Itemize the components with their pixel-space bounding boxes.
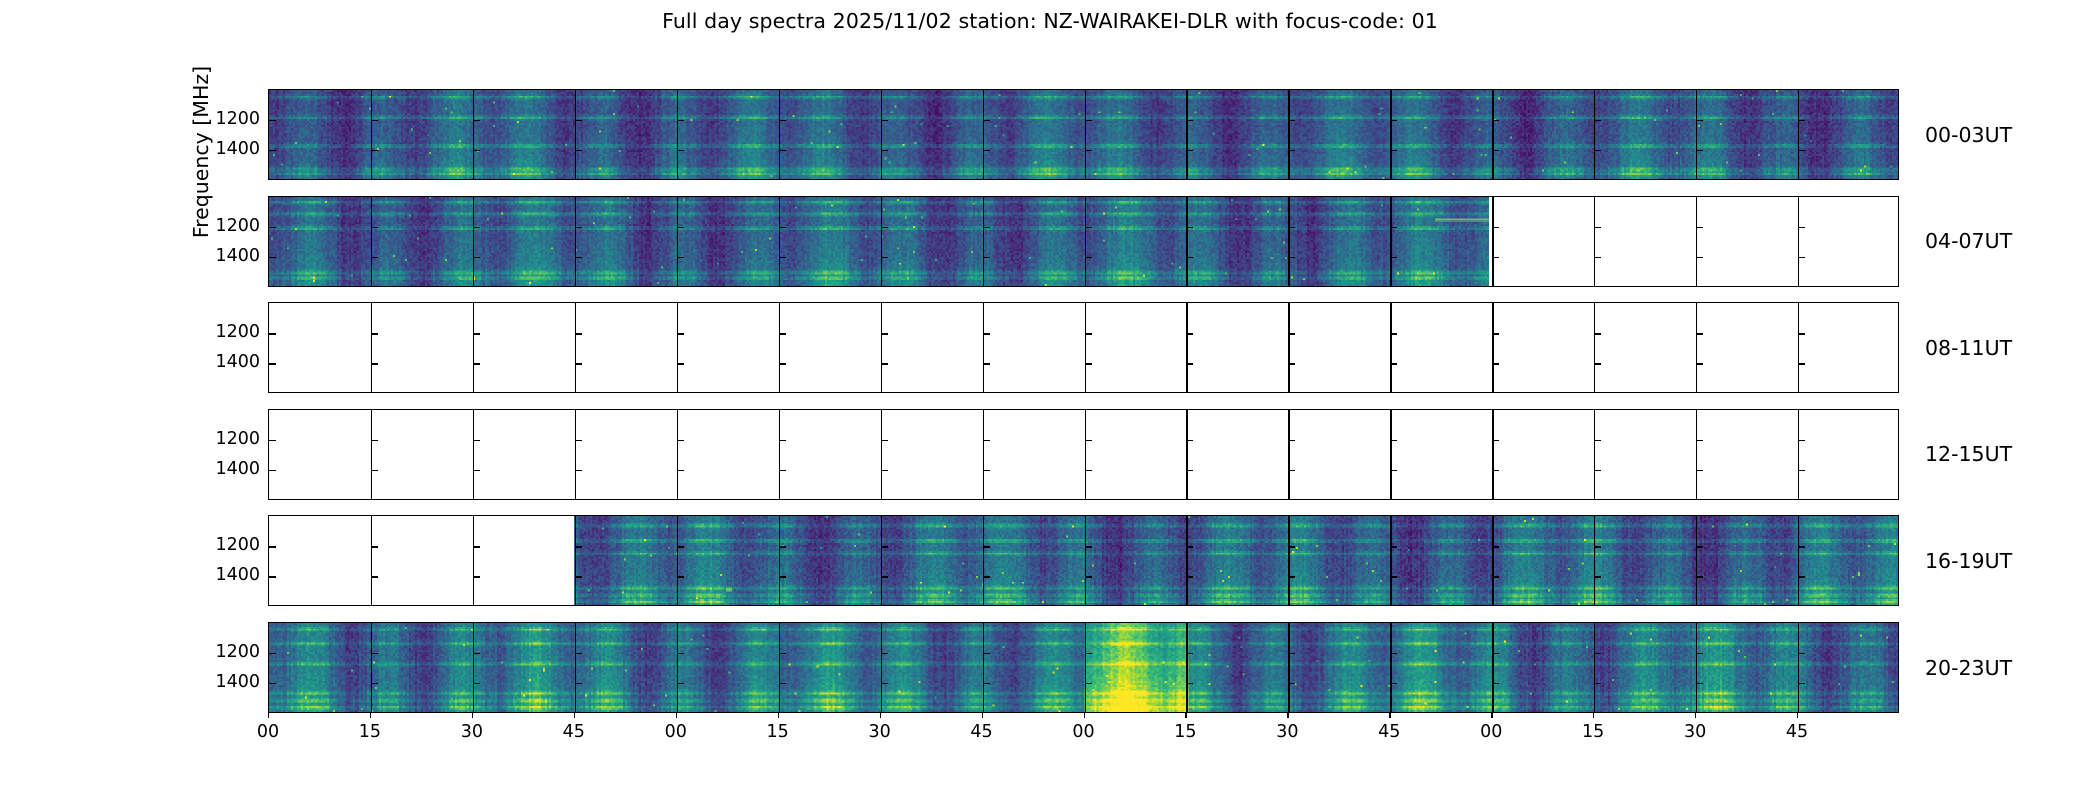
y-tick-mark xyxy=(575,227,582,228)
y-tick-mark xyxy=(1288,470,1295,471)
y-tick-mark xyxy=(1492,470,1499,471)
y-tick-mark xyxy=(269,257,276,258)
panel-divider xyxy=(983,516,984,605)
y-tick-mark xyxy=(779,333,786,334)
y-tick-mark xyxy=(779,576,786,577)
y-tick-mark xyxy=(1594,653,1601,654)
y-tick-mark xyxy=(269,653,276,654)
y-tick-mark xyxy=(371,683,378,684)
x-tick-mark xyxy=(880,713,881,718)
y-tick-mark xyxy=(1798,576,1805,577)
x-tick-mark xyxy=(574,713,575,718)
y-tick-mark xyxy=(1288,257,1295,258)
y-tick-mark xyxy=(1390,120,1397,121)
y-tick-mark xyxy=(1390,440,1397,441)
x-tick-label: 00 xyxy=(257,722,279,742)
y-tick-mark xyxy=(1085,683,1092,684)
y-tick-mark xyxy=(473,150,480,151)
y-tick-mark xyxy=(881,150,888,151)
y-tick-mark xyxy=(1798,333,1805,334)
panel-divider xyxy=(1390,516,1391,605)
panel-divider xyxy=(371,90,372,179)
y-tick-mark xyxy=(983,363,990,364)
y-tick-mark xyxy=(677,227,684,228)
y-tick-mark xyxy=(1798,653,1805,654)
y-tick-mark xyxy=(1492,333,1499,334)
y-tick-mark xyxy=(779,683,786,684)
spectrogram-figure: Full day spectra 2025/11/02 station: NZ-… xyxy=(0,0,2100,800)
panel-divider xyxy=(1085,410,1086,499)
y-tick-mark xyxy=(1390,546,1397,547)
panel-divider xyxy=(1186,197,1187,286)
panel-divider xyxy=(473,197,474,286)
spectrogram-row: 1200140012-15UT xyxy=(268,409,1899,500)
panel-divider xyxy=(983,90,984,179)
y-tick-mark xyxy=(371,120,378,121)
x-tick-label: 45 xyxy=(1378,722,1400,742)
y-tick-mark xyxy=(983,150,990,151)
panel-divider xyxy=(1798,516,1799,605)
panel-divider xyxy=(1696,623,1697,712)
y-tick-mark xyxy=(1492,120,1499,121)
y-tick-mark xyxy=(371,576,378,577)
y-tick-mark xyxy=(1492,653,1499,654)
panel-divider xyxy=(1696,197,1697,286)
y-tick-mark xyxy=(473,683,480,684)
y-tick-mark xyxy=(677,363,684,364)
y-tick-mark xyxy=(269,363,276,364)
y-tick-label: 1400 xyxy=(212,672,260,692)
panel-divider xyxy=(677,90,678,179)
y-tick-mark xyxy=(1288,576,1295,577)
row-time-label: 08-11UT xyxy=(1925,336,2012,360)
panel-divider xyxy=(1288,197,1289,286)
y-tick-mark xyxy=(1492,257,1499,258)
y-tick-mark xyxy=(1492,440,1499,441)
y-tick-label: 1200 xyxy=(212,216,260,236)
y-tick-mark xyxy=(1085,440,1092,441)
panel-divider xyxy=(983,197,984,286)
y-tick-mark xyxy=(677,546,684,547)
panel-divider xyxy=(1186,90,1187,179)
y-tick-mark xyxy=(677,470,684,471)
panel-divider xyxy=(677,303,678,392)
y-tick-mark xyxy=(473,576,480,577)
panel-divider xyxy=(1594,197,1595,286)
panel-divider xyxy=(473,410,474,499)
y-tick-mark xyxy=(983,470,990,471)
panel-divider xyxy=(1798,623,1799,712)
panel-divider xyxy=(1696,516,1697,605)
y-tick-mark xyxy=(1390,653,1397,654)
y-tick-mark xyxy=(1696,470,1703,471)
y-tick-mark xyxy=(1492,576,1499,577)
x-tick-label: 15 xyxy=(1174,722,1196,742)
y-tick-mark xyxy=(1492,227,1499,228)
panel-divider xyxy=(371,623,372,712)
y-tick-mark xyxy=(779,150,786,151)
y-tick-mark xyxy=(779,257,786,258)
y-tick-mark xyxy=(269,120,276,121)
y-tick-mark xyxy=(1085,150,1092,151)
y-tick-mark xyxy=(881,546,888,547)
y-tick-mark xyxy=(881,683,888,684)
spectrogram-row: 1200140020-23UT xyxy=(268,622,1899,713)
panel-divider xyxy=(1288,623,1289,712)
panel-divider xyxy=(1288,303,1289,392)
y-tick-mark xyxy=(1798,363,1805,364)
y-tick-mark xyxy=(1492,546,1499,547)
y-tick-mark xyxy=(371,227,378,228)
y-tick-mark xyxy=(1390,333,1397,334)
panel-divider xyxy=(1288,90,1289,179)
panel-divider xyxy=(779,410,780,499)
panel-divider xyxy=(1186,303,1187,392)
x-tick-label: 15 xyxy=(1582,722,1604,742)
y-tick-mark xyxy=(1085,257,1092,258)
y-tick-mark xyxy=(779,653,786,654)
panel-divider xyxy=(575,90,576,179)
y-tick-mark xyxy=(1085,576,1092,577)
x-tick-mark xyxy=(268,713,269,718)
x-tick-mark xyxy=(1287,713,1288,718)
panel-divider xyxy=(1492,410,1493,499)
y-tick-mark xyxy=(779,363,786,364)
x-tick-mark xyxy=(1389,713,1390,718)
spectrogram-row: 1200140008-11UT xyxy=(268,302,1899,393)
y-tick-label: 1400 xyxy=(212,139,260,159)
panel-divider xyxy=(1492,303,1493,392)
panel-divider xyxy=(779,303,780,392)
x-tick-label: 15 xyxy=(359,722,381,742)
panel-divider xyxy=(1696,90,1697,179)
panel-divider xyxy=(677,516,678,605)
panel-divider xyxy=(779,623,780,712)
panel-divider xyxy=(575,516,576,605)
y-tick-mark xyxy=(1492,150,1499,151)
panel-divider xyxy=(1390,410,1391,499)
row-time-label: 12-15UT xyxy=(1925,442,2012,466)
x-tick-mark xyxy=(1695,713,1696,718)
y-tick-mark xyxy=(881,333,888,334)
y-tick-mark xyxy=(1186,227,1193,228)
y-tick-mark xyxy=(1696,683,1703,684)
panel-divider xyxy=(881,623,882,712)
panel-divider xyxy=(1186,516,1187,605)
panel-divider xyxy=(881,410,882,499)
x-tick-mark xyxy=(1491,713,1492,718)
panel-divider xyxy=(575,197,576,286)
y-tick-mark xyxy=(677,257,684,258)
y-tick-mark xyxy=(1186,150,1193,151)
row-frame xyxy=(268,302,1899,393)
x-tick-mark xyxy=(982,713,983,718)
y-tick-mark xyxy=(1186,576,1193,577)
y-tick-mark xyxy=(677,576,684,577)
y-tick-mark xyxy=(575,363,582,364)
y-tick-mark xyxy=(779,440,786,441)
y-tick-mark xyxy=(371,440,378,441)
y-tick-mark xyxy=(473,257,480,258)
panel-divider xyxy=(1594,516,1595,605)
panel-divider xyxy=(983,303,984,392)
panel-divider xyxy=(983,623,984,712)
y-tick-mark xyxy=(1492,363,1499,364)
panel-divider xyxy=(1186,410,1187,499)
y-tick-mark xyxy=(779,546,786,547)
y-tick-label: 1400 xyxy=(212,565,260,585)
y-tick-mark xyxy=(269,576,276,577)
panel-divider xyxy=(1085,197,1086,286)
y-tick-mark xyxy=(575,683,582,684)
y-tick-mark xyxy=(473,546,480,547)
y-tick-mark xyxy=(1696,546,1703,547)
y-tick-mark xyxy=(983,546,990,547)
panel-divider xyxy=(371,516,372,605)
x-tick-label: 45 xyxy=(1786,722,1808,742)
y-tick-mark xyxy=(473,227,480,228)
y-tick-mark xyxy=(881,257,888,258)
panel-divider xyxy=(1594,623,1595,712)
row-frame xyxy=(268,515,1899,606)
x-tick-label: 45 xyxy=(563,722,585,742)
panel-divider xyxy=(1390,623,1391,712)
y-tick-mark xyxy=(779,470,786,471)
panel-divider xyxy=(983,410,984,499)
y-tick-mark xyxy=(1798,470,1805,471)
y-tick-mark xyxy=(269,333,276,334)
x-tick-label: 30 xyxy=(1684,722,1706,742)
y-tick-label: 1400 xyxy=(212,246,260,266)
y-tick-label: 1200 xyxy=(212,642,260,662)
x-tick-label: 00 xyxy=(1480,722,1502,742)
y-tick-mark xyxy=(371,653,378,654)
panel-divider xyxy=(1085,623,1086,712)
row-frame xyxy=(268,409,1899,500)
panel-divider xyxy=(473,516,474,605)
panel-divider xyxy=(371,197,372,286)
y-tick-mark xyxy=(269,227,276,228)
y-tick-mark xyxy=(779,227,786,228)
y-tick-mark xyxy=(1798,227,1805,228)
x-tick-mark xyxy=(370,713,371,718)
y-tick-mark xyxy=(1696,653,1703,654)
y-tick-mark xyxy=(1798,257,1805,258)
y-tick-mark xyxy=(1288,150,1295,151)
panel-divider xyxy=(881,303,882,392)
y-tick-mark xyxy=(1288,363,1295,364)
panel-divider xyxy=(473,303,474,392)
y-tick-mark xyxy=(371,546,378,547)
panel-divider xyxy=(575,623,576,712)
figure-title: Full day spectra 2025/11/02 station: NZ-… xyxy=(0,9,2100,33)
y-tick-mark xyxy=(1186,257,1193,258)
y-tick-mark xyxy=(1492,683,1499,684)
y-tick-mark xyxy=(575,576,582,577)
y-tick-mark xyxy=(1594,333,1601,334)
y-tick-mark xyxy=(677,683,684,684)
y-tick-mark xyxy=(1798,440,1805,441)
panel-divider xyxy=(371,303,372,392)
y-tick-mark xyxy=(983,120,990,121)
spectrogram-row: 1200140000-03UT xyxy=(268,89,1899,180)
y-tick-mark xyxy=(1085,227,1092,228)
x-tick-mark xyxy=(1084,713,1085,718)
x-tick-label: 30 xyxy=(1276,722,1298,742)
spectrogram-data xyxy=(574,516,1899,605)
spectrogram-row: 1200140004-07UT xyxy=(268,196,1899,287)
y-tick-mark xyxy=(473,363,480,364)
y-tick-mark xyxy=(575,120,582,121)
plot-area: 1200140000-03UT1200140004-07UT1200140008… xyxy=(268,89,1899,708)
x-tick-label: 30 xyxy=(868,722,890,742)
y-tick-mark xyxy=(1594,470,1601,471)
x-tick-mark xyxy=(472,713,473,718)
panel-divider xyxy=(779,197,780,286)
y-tick-mark xyxy=(1798,120,1805,121)
y-tick-mark xyxy=(371,333,378,334)
panel-divider xyxy=(1492,90,1493,179)
y-tick-mark xyxy=(1288,333,1295,334)
y-tick-mark xyxy=(983,576,990,577)
y-tick-mark xyxy=(575,333,582,334)
panel-divider xyxy=(1492,623,1493,712)
x-tick-mark xyxy=(778,713,779,718)
y-tick-mark xyxy=(1594,576,1601,577)
y-tick-mark xyxy=(1085,333,1092,334)
x-tick-mark xyxy=(1797,713,1798,718)
y-tick-mark xyxy=(1594,683,1601,684)
row-time-label: 00-03UT xyxy=(1925,123,2012,147)
panel-divider xyxy=(473,90,474,179)
y-tick-mark xyxy=(371,150,378,151)
y-tick-mark xyxy=(1798,546,1805,547)
x-tick-mark xyxy=(1593,713,1594,718)
y-tick-mark xyxy=(677,653,684,654)
panel-divider xyxy=(677,197,678,286)
y-tick-mark xyxy=(473,440,480,441)
y-tick-mark xyxy=(983,440,990,441)
panel-divider xyxy=(1696,303,1697,392)
y-tick-mark xyxy=(1798,150,1805,151)
y-tick-mark xyxy=(779,120,786,121)
y-tick-mark xyxy=(1085,363,1092,364)
panel-divider xyxy=(881,516,882,605)
y-tick-mark xyxy=(881,227,888,228)
y-tick-mark xyxy=(1594,440,1601,441)
y-tick-mark xyxy=(371,470,378,471)
y-tick-mark xyxy=(1696,227,1703,228)
panel-divider xyxy=(1798,90,1799,179)
y-tick-mark xyxy=(1594,227,1601,228)
y-tick-mark xyxy=(1288,683,1295,684)
y-tick-mark xyxy=(1085,470,1092,471)
panel-divider xyxy=(575,303,576,392)
y-tick-mark xyxy=(1696,363,1703,364)
y-tick-mark xyxy=(473,470,480,471)
panel-divider xyxy=(677,410,678,499)
spectrogram-row: 1200140016-19UT xyxy=(268,515,1899,606)
y-tick-mark xyxy=(473,120,480,121)
row-time-label: 20-23UT xyxy=(1925,656,2012,680)
y-tick-mark xyxy=(1594,120,1601,121)
y-tick-label: 1200 xyxy=(212,109,260,129)
panel-divider xyxy=(1186,623,1187,712)
y-tick-mark xyxy=(1186,120,1193,121)
y-tick-mark xyxy=(677,440,684,441)
panel-divider xyxy=(1085,90,1086,179)
y-tick-mark xyxy=(1390,470,1397,471)
y-tick-mark xyxy=(1696,257,1703,258)
y-tick-mark xyxy=(983,257,990,258)
y-tick-mark xyxy=(1288,546,1295,547)
y-tick-mark xyxy=(371,257,378,258)
y-tick-mark xyxy=(1288,120,1295,121)
y-tick-mark xyxy=(881,363,888,364)
panel-divider xyxy=(1390,303,1391,392)
y-tick-mark xyxy=(1798,683,1805,684)
y-tick-mark xyxy=(575,546,582,547)
y-tick-mark xyxy=(1696,333,1703,334)
y-tick-mark xyxy=(575,257,582,258)
y-tick-mark xyxy=(269,150,276,151)
y-tick-mark xyxy=(575,150,582,151)
y-tick-mark xyxy=(1390,683,1397,684)
panel-divider xyxy=(779,90,780,179)
y-tick-mark xyxy=(1390,576,1397,577)
x-tick-mark xyxy=(676,713,677,718)
spectrogram-data xyxy=(269,197,1489,286)
panel-divider xyxy=(473,623,474,712)
y-tick-mark xyxy=(983,333,990,334)
y-tick-mark xyxy=(1594,363,1601,364)
y-tick-mark xyxy=(1696,120,1703,121)
y-tick-mark xyxy=(983,227,990,228)
y-tick-mark xyxy=(1085,546,1092,547)
y-tick-mark xyxy=(1390,150,1397,151)
x-tick-label: 15 xyxy=(767,722,789,742)
y-tick-mark xyxy=(575,470,582,471)
y-tick-label: 1200 xyxy=(212,322,260,342)
panel-divider xyxy=(1594,410,1595,499)
y-tick-mark xyxy=(575,440,582,441)
y-tick-mark xyxy=(1186,363,1193,364)
y-tick-mark xyxy=(473,653,480,654)
panel-divider xyxy=(881,90,882,179)
y-tick-mark xyxy=(677,150,684,151)
row-frame xyxy=(268,89,1899,180)
x-tick-label: 30 xyxy=(461,722,483,742)
panel-divider xyxy=(371,410,372,499)
y-tick-mark xyxy=(371,363,378,364)
y-tick-mark xyxy=(677,120,684,121)
y-tick-mark xyxy=(269,546,276,547)
x-tick-label: 00 xyxy=(665,722,687,742)
panel-divider xyxy=(1798,410,1799,499)
y-tick-mark xyxy=(881,576,888,577)
panel-divider xyxy=(1390,90,1391,179)
y-tick-mark xyxy=(1085,653,1092,654)
y-tick-mark xyxy=(881,653,888,654)
panel-divider xyxy=(1390,197,1391,286)
panel-divider xyxy=(1288,410,1289,499)
y-tick-mark xyxy=(1594,546,1601,547)
panel-divider xyxy=(1798,303,1799,392)
row-frame xyxy=(268,196,1899,287)
y-tick-label: 1400 xyxy=(212,459,260,479)
panel-divider xyxy=(779,516,780,605)
y-tick-mark xyxy=(1186,683,1193,684)
